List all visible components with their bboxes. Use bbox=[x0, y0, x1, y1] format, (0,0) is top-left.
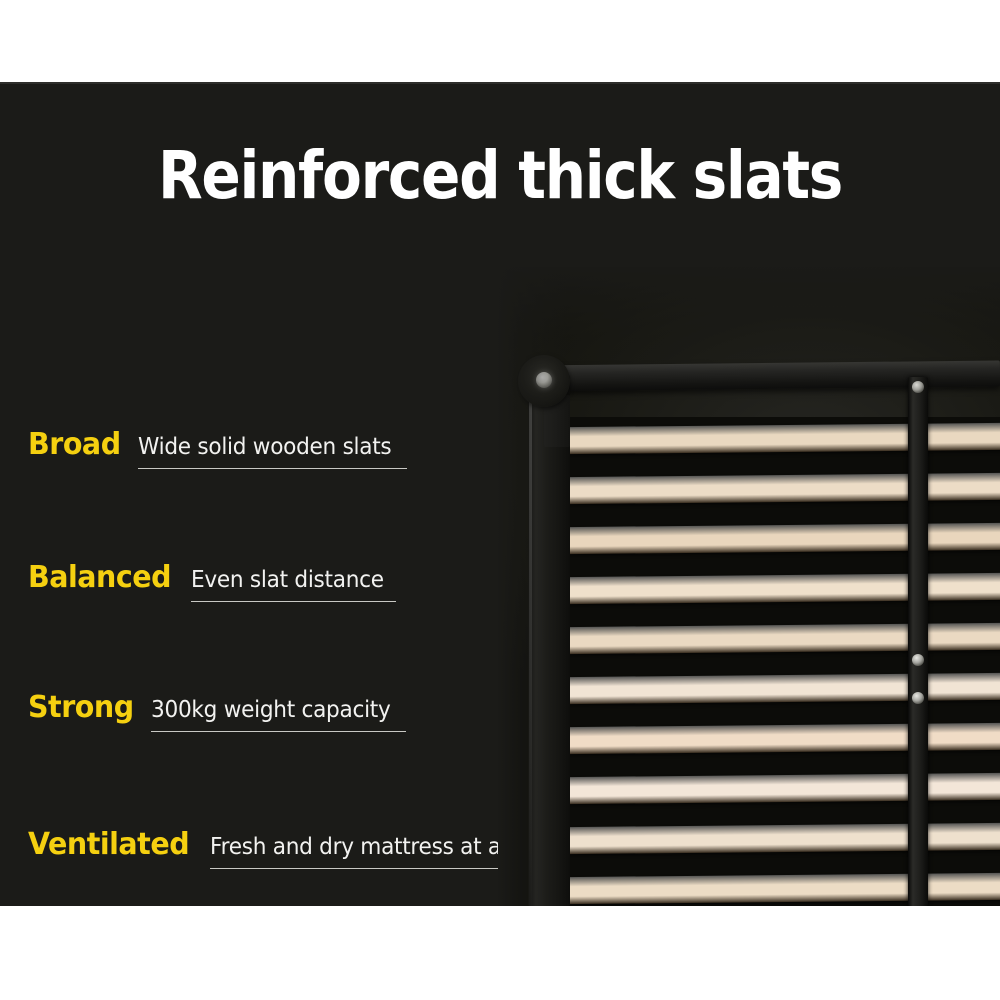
promo-image: Reinforced thick slats Broad Wide solid … bbox=[0, 0, 1000, 1000]
wooden-slat bbox=[568, 623, 1000, 654]
feature-description-underline: Wide solid wooden slats bbox=[138, 434, 408, 469]
feature-term: Broad bbox=[28, 427, 121, 462]
wooden-slat bbox=[568, 573, 1000, 604]
feature-term: Balanced bbox=[28, 560, 171, 595]
center-bar-screw-top bbox=[912, 381, 924, 393]
feature-row-balanced: Balanced Even slat distance bbox=[28, 560, 396, 602]
feature-description: Wide solid wooden slats bbox=[138, 434, 391, 460]
feature-term: Ventilated bbox=[28, 827, 189, 862]
feature-description: 300kg weight capacity bbox=[151, 697, 391, 723]
left-rail-highlight bbox=[529, 377, 532, 906]
wooden-slat bbox=[568, 423, 1000, 454]
wooden-slat bbox=[568, 523, 1000, 554]
slat-field bbox=[568, 417, 1000, 906]
feature-description-underline: 300kg weight capacity bbox=[151, 697, 406, 732]
top-rail bbox=[528, 361, 1000, 392]
feature-row-strong: Strong 300kg weight capacity bbox=[28, 690, 406, 732]
feature-description: Even slat distance bbox=[191, 567, 384, 593]
wooden-slat bbox=[568, 673, 1000, 704]
left-rail bbox=[528, 375, 570, 906]
corner-bracket-bolt bbox=[536, 372, 552, 388]
bed-frame-slats-photo bbox=[498, 267, 1000, 906]
wooden-slat bbox=[568, 873, 1000, 904]
panel-top-divider bbox=[0, 82, 1000, 84]
wooden-slat bbox=[568, 823, 1000, 854]
center-bar-screw-upper bbox=[912, 654, 924, 666]
wooden-slat bbox=[568, 723, 1000, 754]
center-bar-screw-lower bbox=[912, 692, 924, 704]
dark-promo-panel: Reinforced thick slats Broad Wide solid … bbox=[0, 82, 1000, 906]
page-title: Reinforced thick slats bbox=[60, 137, 940, 214]
wooden-slat bbox=[568, 473, 1000, 504]
feature-description-underline: Even slat distance bbox=[191, 567, 396, 602]
feature-term: Strong bbox=[28, 690, 134, 725]
wooden-slat bbox=[568, 773, 1000, 804]
center-support-bar bbox=[908, 377, 928, 906]
feature-row-broad: Broad Wide solid wooden slats bbox=[28, 427, 407, 469]
